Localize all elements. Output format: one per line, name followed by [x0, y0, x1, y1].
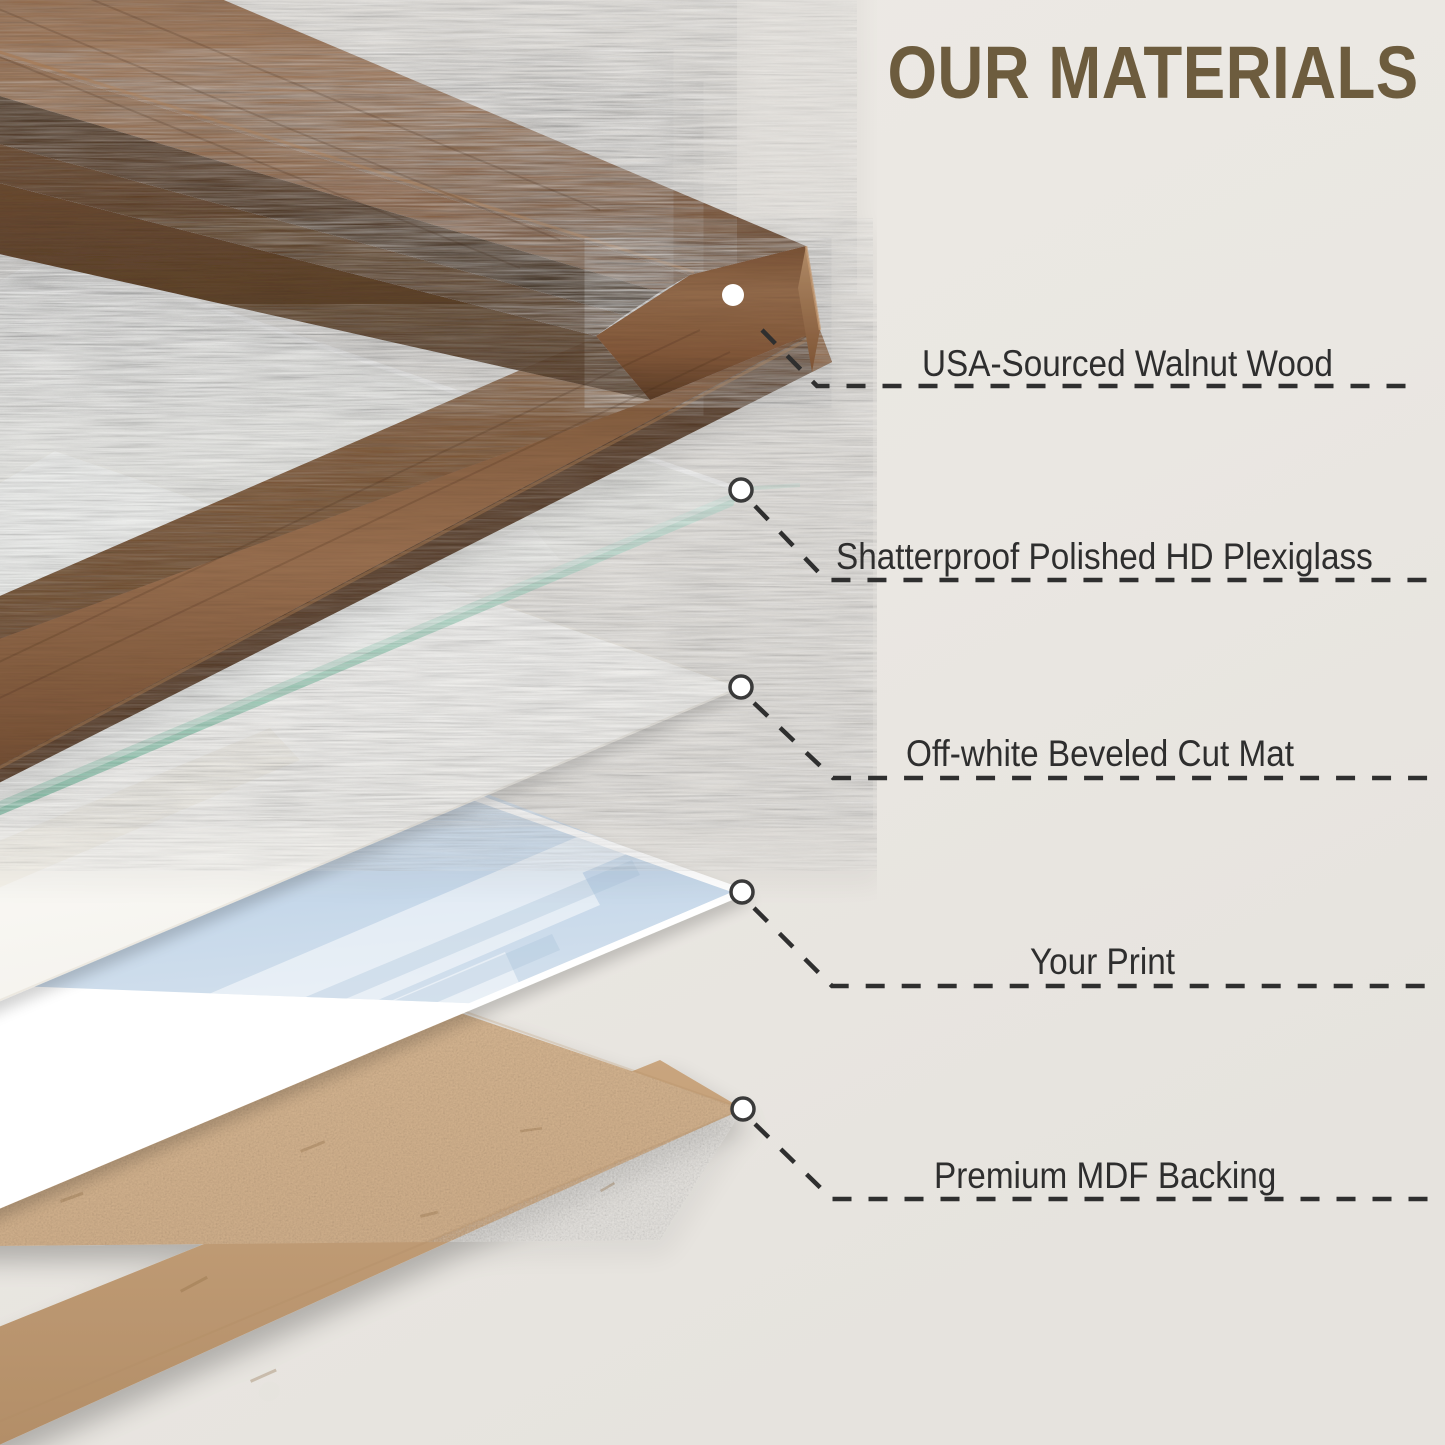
callout-label-wood: USA-Sourced Walnut Wood [922, 345, 1333, 382]
callout-label-print: Your Print [1030, 943, 1175, 980]
page-title: OUR MATERIALS [888, 36, 1419, 110]
callout-label-plexiglass: Shatterproof Polished HD Plexiglass [836, 538, 1373, 575]
exploded-frame-illustration [0, 0, 1445, 1445]
callout-dot-mdf[interactable] [732, 1098, 754, 1120]
callout-dot-wood[interactable] [722, 284, 744, 306]
callout-dot-print[interactable] [731, 881, 753, 903]
callout-label-mdf: Premium MDF Backing [934, 1157, 1276, 1194]
callout-dot-plexiglass[interactable] [730, 479, 752, 501]
materials-infographic: OUR MATERIALS USA-Sourced Walnut Wood Sh… [0, 0, 1445, 1445]
callout-label-mat: Off-white Beveled Cut Mat [906, 735, 1294, 772]
callout-dot-mat[interactable] [730, 676, 752, 698]
